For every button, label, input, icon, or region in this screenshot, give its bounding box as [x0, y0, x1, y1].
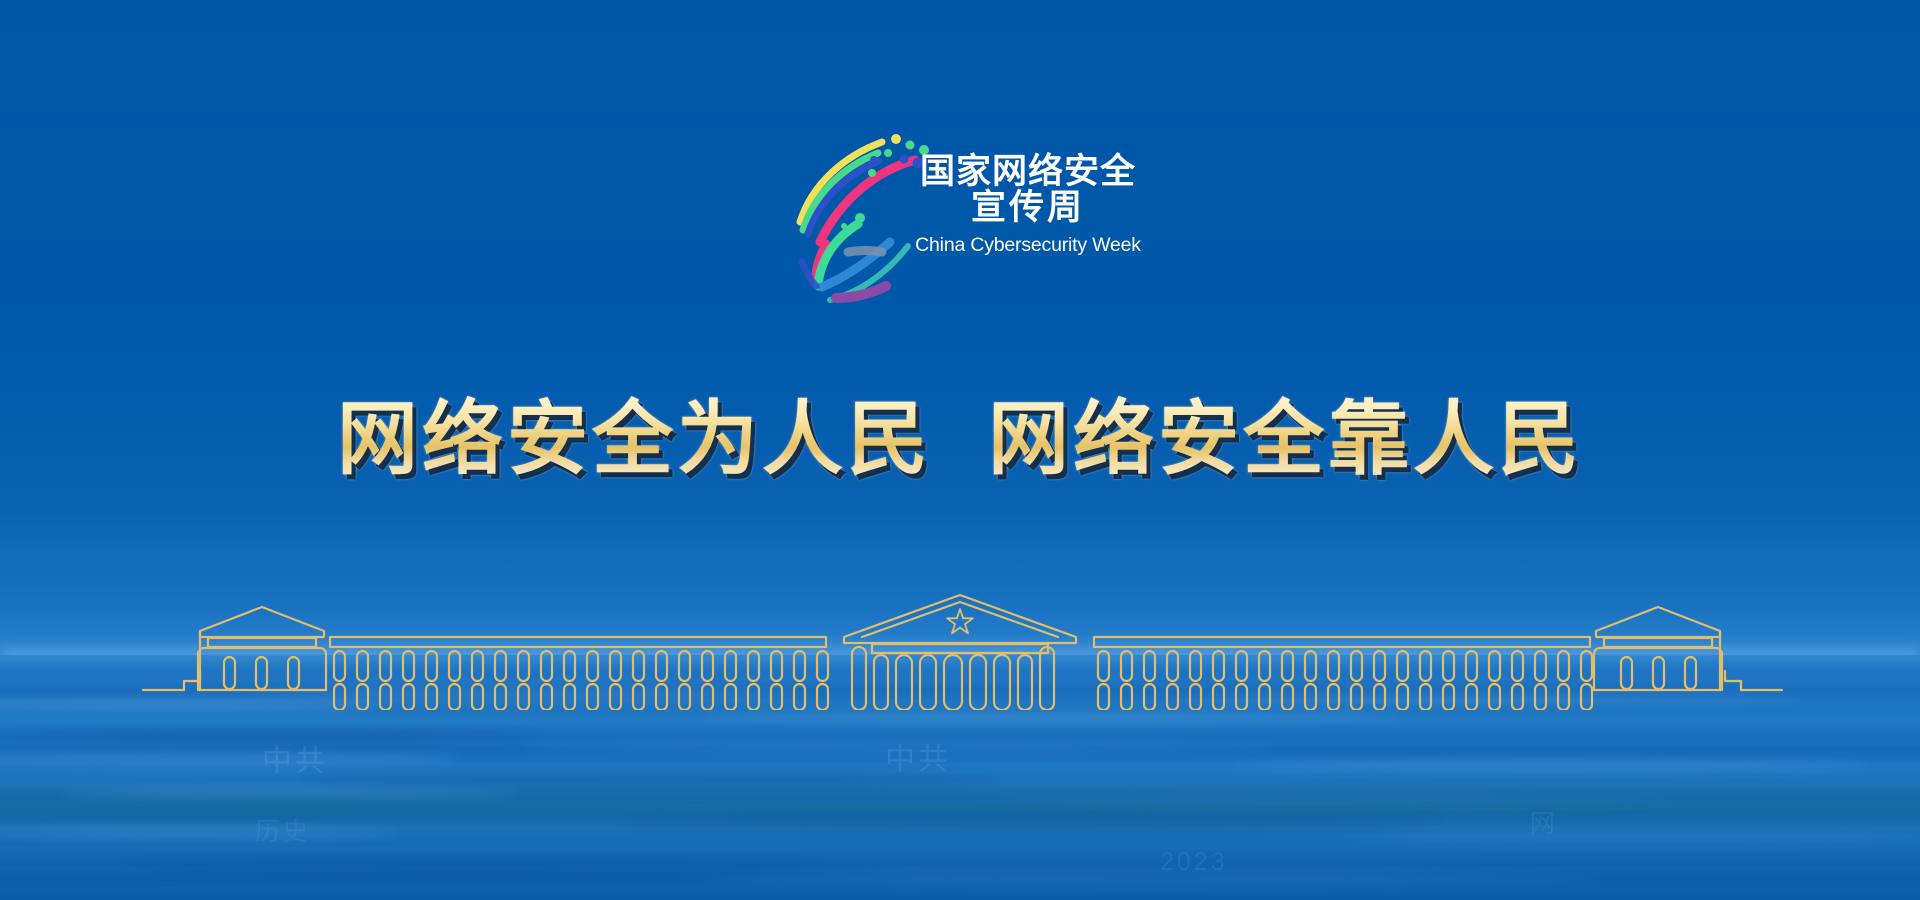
left-pavilion-body — [198, 648, 326, 690]
slogan-phrase-1: 网络安全为人民 — [337, 392, 932, 488]
wave-streak — [700, 874, 1600, 886]
right-colonnade-entablature — [1094, 637, 1590, 647]
slogan-phrase-2: 网络安全靠人民 — [988, 392, 1583, 488]
building-baseline-right — [1725, 671, 1782, 690]
wave-streak — [1230, 760, 1870, 772]
poster-stage: 中共 中共 历史 2023 网 — [0, 0, 1920, 900]
wave-streak-dark — [120, 858, 820, 878]
left-pavilion-column — [288, 657, 299, 689]
left-colonnade-entablature — [330, 637, 826, 647]
wave-streak — [700, 712, 1400, 722]
main-slogan: 网络安全为人民网络安全靠人民 — [0, 392, 1920, 488]
wave-streak — [1340, 832, 1920, 842]
watermark-text: 网 — [1530, 804, 1558, 840]
left-pavilion-architrave — [208, 638, 316, 647]
right-pavilion-body — [1594, 648, 1722, 690]
logo-wordmark: 国家网络安全 宣传周 China Cybersecurity Week — [908, 154, 1148, 257]
left-colonnade-upper-columns — [334, 651, 828, 681]
wave-streak-dark — [620, 812, 1440, 830]
right-pavilion-column — [1621, 657, 1632, 689]
watermark-text: 中共 — [885, 734, 951, 778]
right-colonnade-lower-columns — [1098, 684, 1592, 710]
central-architrave — [872, 644, 1048, 653]
left-colonnade-lower-columns — [334, 684, 828, 710]
watermark-text: 历史 — [255, 812, 311, 848]
logo-title-line2: 宣传周 — [908, 190, 1148, 226]
right-pavilion-architrave — [1604, 638, 1712, 647]
wave-streak — [60, 788, 520, 799]
wave-streak — [0, 826, 400, 838]
left-pavilion-column — [224, 657, 235, 689]
right-pavilion-pediment — [1596, 607, 1720, 637]
right-pavilion-column — [1685, 657, 1696, 689]
star-emblem — [947, 609, 973, 633]
building-baseline-left — [143, 671, 200, 690]
logo-title-line1: 国家网络安全 — [908, 154, 1148, 190]
right-pavilion-column — [1653, 657, 1664, 689]
great-hall-of-the-people-line-art — [0, 585, 1920, 710]
watermark-text: 中共 — [262, 736, 328, 780]
central-columns — [852, 647, 1054, 710]
logo-english: China Cybersecurity Week — [908, 233, 1148, 257]
wave-streak — [980, 796, 1680, 806]
left-pavilion-pediment — [200, 607, 324, 637]
watermark-text: 2023 — [1160, 848, 1228, 877]
right-colonnade-upper-columns — [1098, 651, 1592, 681]
china-cybersecurity-week-logo: 国家网络安全 宣传周 China Cybersecurity Week — [786, 126, 1146, 311]
left-pavilion-column — [256, 657, 267, 689]
